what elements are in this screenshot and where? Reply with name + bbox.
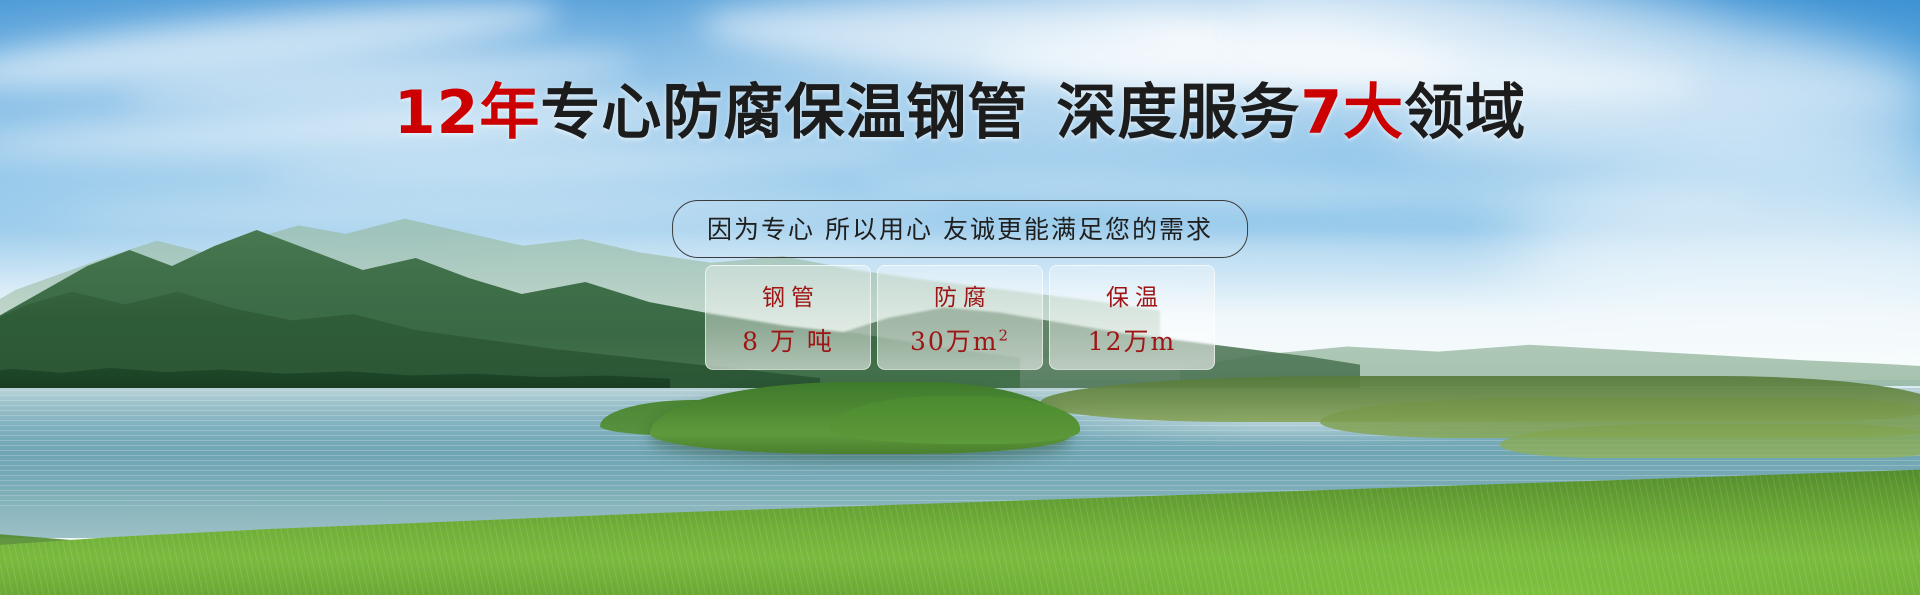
hero-banner: 12年专心防腐保温钢管深度服务7大领域 因为专心 所以用心 友诚更能满足您的需求…: [0, 0, 1920, 595]
stat-card-value: 12万m: [1088, 322, 1177, 358]
headline-fields: 领域: [1404, 78, 1526, 148]
headline-years: 12年: [394, 78, 541, 148]
stat-card-value-text: 12万m: [1088, 327, 1177, 356]
stat-card-title: 钢管: [756, 278, 820, 312]
stat-card-title: 防腐: [928, 278, 992, 312]
banner-headline: 12年专心防腐保温钢管深度服务7大领域: [0, 83, 1920, 143]
stat-card-group: 钢管 8 万 吨 防腐 30万m2 保温 12万m: [705, 265, 1215, 370]
stat-card-title: 保温: [1100, 278, 1164, 312]
stat-card-steel-pipe: 钢管 8 万 吨: [705, 265, 871, 370]
stat-card-value: 30万m2: [910, 322, 1010, 358]
banner-subtitle: 因为专心 所以用心 友诚更能满足您的需求: [672, 200, 1248, 258]
stat-card-value-text: 8 万 吨: [742, 327, 834, 356]
headline-count: 7大: [1300, 78, 1404, 148]
stat-card-value-text: 30万m: [910, 327, 999, 356]
grass-island: [830, 396, 1080, 444]
headline-main: 专心防腐保温钢管: [540, 78, 1028, 148]
stat-card-anticorrosion: 防腐 30万m2: [877, 265, 1043, 370]
stat-card-value: 8 万 吨: [742, 322, 834, 358]
stat-card-insulation: 保温 12万m: [1049, 265, 1215, 370]
marsh-bank: [1500, 424, 1920, 458]
headline-service: 深度服务: [1056, 78, 1300, 148]
stat-card-value-sup: 2: [998, 326, 1010, 344]
